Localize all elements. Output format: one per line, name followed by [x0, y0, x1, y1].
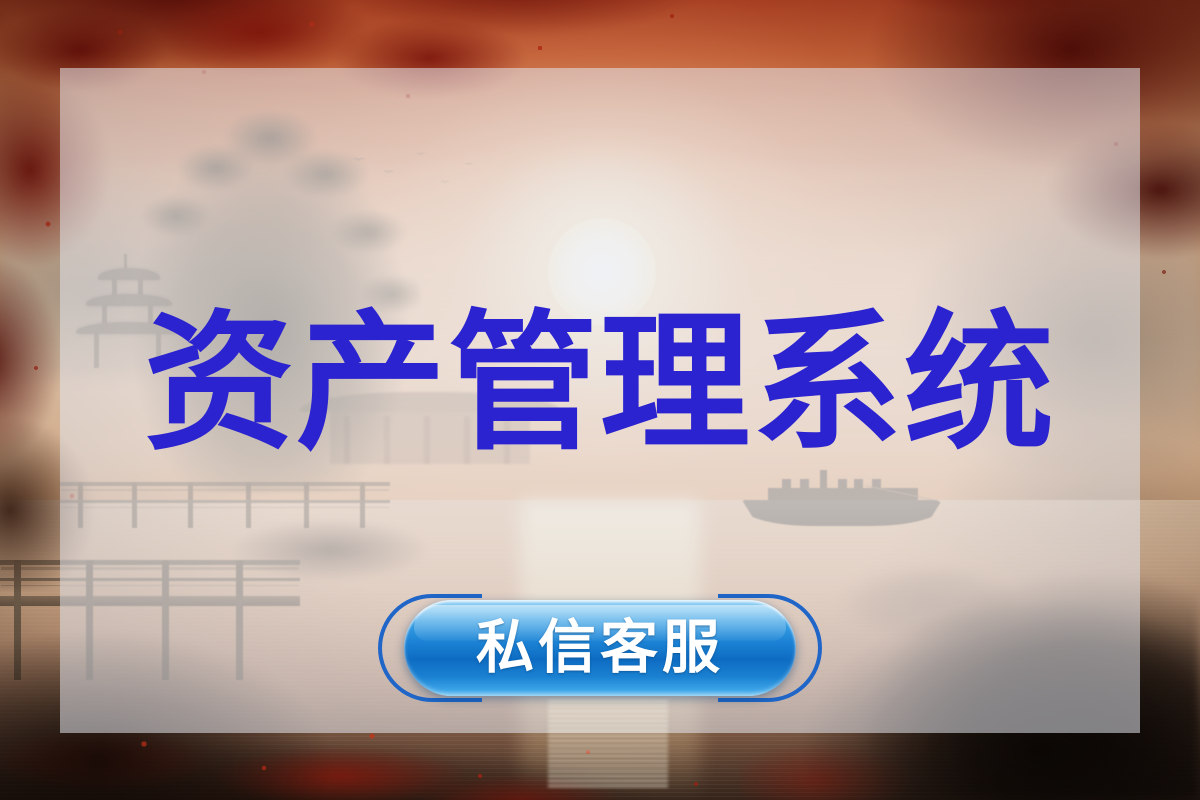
banner-stage: 资产管理系统 私信客服 — [0, 0, 1200, 800]
contact-support-label: 私信客服 — [476, 619, 724, 677]
cta-container: 私信客服 — [378, 586, 822, 710]
page-title: 资产管理系统 — [0, 300, 1200, 466]
sun-glint — [548, 700, 668, 790]
contact-support-button[interactable]: 私信客服 — [404, 600, 796, 696]
